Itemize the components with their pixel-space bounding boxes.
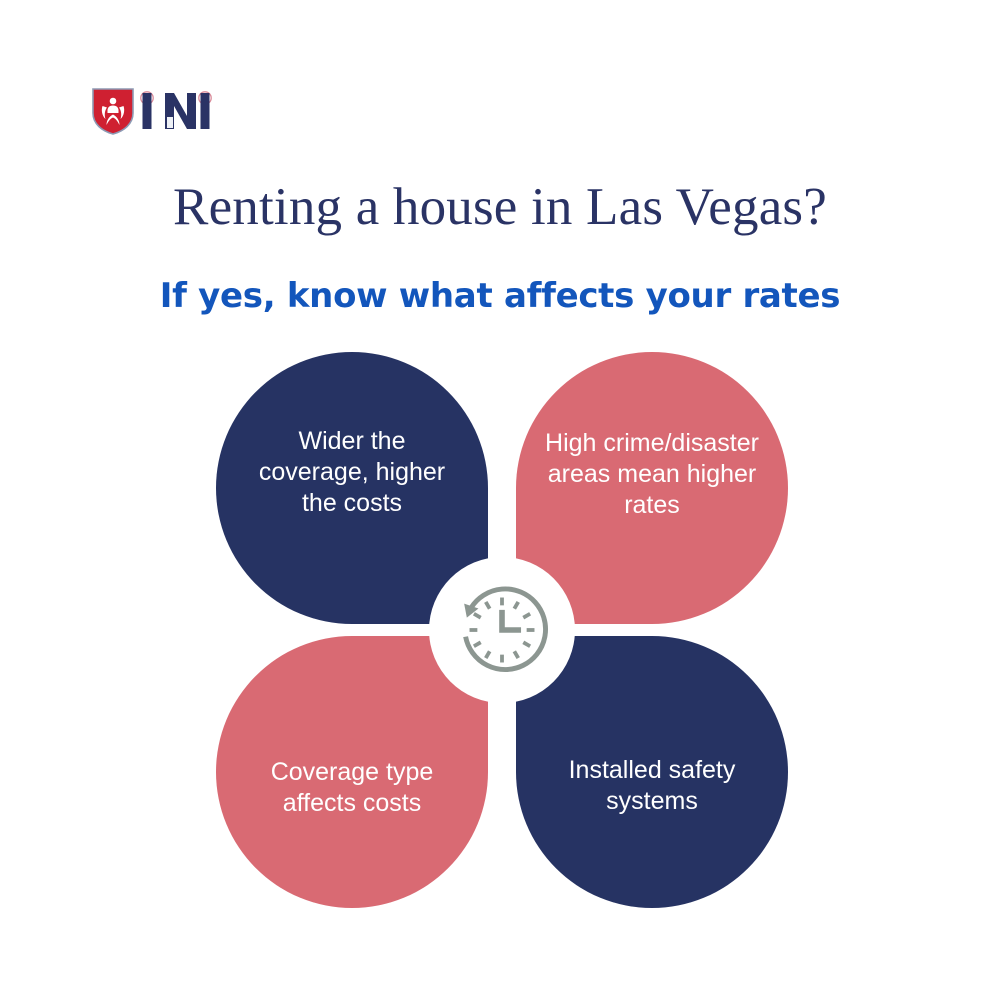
petal-label: Installed safety systems [542, 755, 762, 817]
shield-person-icon [90, 86, 136, 136]
petal-diagram: Wider the coverage, higher the costs Hig… [216, 352, 788, 908]
logo-wordmark-ini [138, 86, 216, 136]
brand-logo[interactable] [90, 84, 220, 138]
petal-label: High crime/disaster areas mean higher ra… [542, 428, 762, 521]
clock-refresh-icon [446, 574, 558, 686]
diagram-center-hub [429, 557, 575, 703]
page-title: Renting a house in Las Vegas? [0, 176, 1000, 238]
petal-label: Coverage type affects costs [242, 757, 462, 819]
page-subtitle: If yes, know what affects your rates [0, 275, 1000, 317]
petal-label: Wider the coverage, higher the costs [242, 426, 462, 519]
